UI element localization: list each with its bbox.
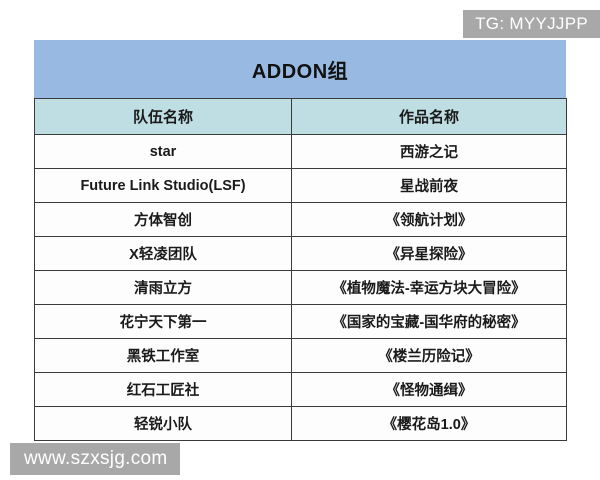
table-row: 花宁天下第一《国家的宝藏-国华府的秘密》 [35,305,567,339]
table-row: Future Link Studio(LSF)星战前夜 [35,169,567,203]
addon-group-table-block: ADDON组 队伍名称 作品名称 star西游之记Future Link Stu… [34,40,566,441]
cell-team-name: 轻锐小队 [35,407,292,441]
cell-work-name: 《领航计划》 [292,203,567,237]
table-row: 黑铁工作室《楼兰历险记》 [35,339,567,373]
table-row: 轻锐小队《樱花岛1.0》 [35,407,567,441]
column-header-team: 队伍名称 [35,99,292,135]
table-row: X轻凌团队《异星探险》 [35,237,567,271]
table-title-band: ADDON组 [34,40,566,98]
table-row: 红石工匠社《怪物通缉》 [35,373,567,407]
cell-work-name: 《异星探险》 [292,237,567,271]
cell-work-name: 《植物魔法-幸运方块大冒险》 [292,271,567,305]
cell-team-name: Future Link Studio(LSF) [35,169,292,203]
table-body: star西游之记Future Link Studio(LSF)星战前夜方体智创《… [35,135,567,441]
cell-team-name: X轻凌团队 [35,237,292,271]
cell-team-name: 红石工匠社 [35,373,292,407]
cell-team-name: 方体智创 [35,203,292,237]
cell-team-name: 黑铁工作室 [35,339,292,373]
table-row: 清雨立方《植物魔法-幸运方块大冒险》 [35,271,567,305]
cell-work-name: 西游之记 [292,135,567,169]
cell-work-name: 《楼兰历险记》 [292,339,567,373]
cell-team-name: star [35,135,292,169]
addon-group-table: 队伍名称 作品名称 star西游之记Future Link Studio(LSF… [34,98,567,441]
cell-work-name: 《国家的宝藏-国华府的秘密》 [292,305,567,339]
table-header-row: 队伍名称 作品名称 [35,99,567,135]
cell-work-name: 《樱花岛1.0》 [292,407,567,441]
cell-work-name: 星战前夜 [292,169,567,203]
watermark-top-right: TG: MYYJJPP [463,10,600,38]
cell-team-name: 清雨立方 [35,271,292,305]
cell-work-name: 《怪物通缉》 [292,373,567,407]
table-row: 方体智创《领航计划》 [35,203,567,237]
page-title: ADDON组 [252,55,348,84]
watermark-bottom-left: www.szxsjg.com [10,443,180,475]
table-row: star西游之记 [35,135,567,169]
cell-team-name: 花宁天下第一 [35,305,292,339]
column-header-work: 作品名称 [292,99,567,135]
